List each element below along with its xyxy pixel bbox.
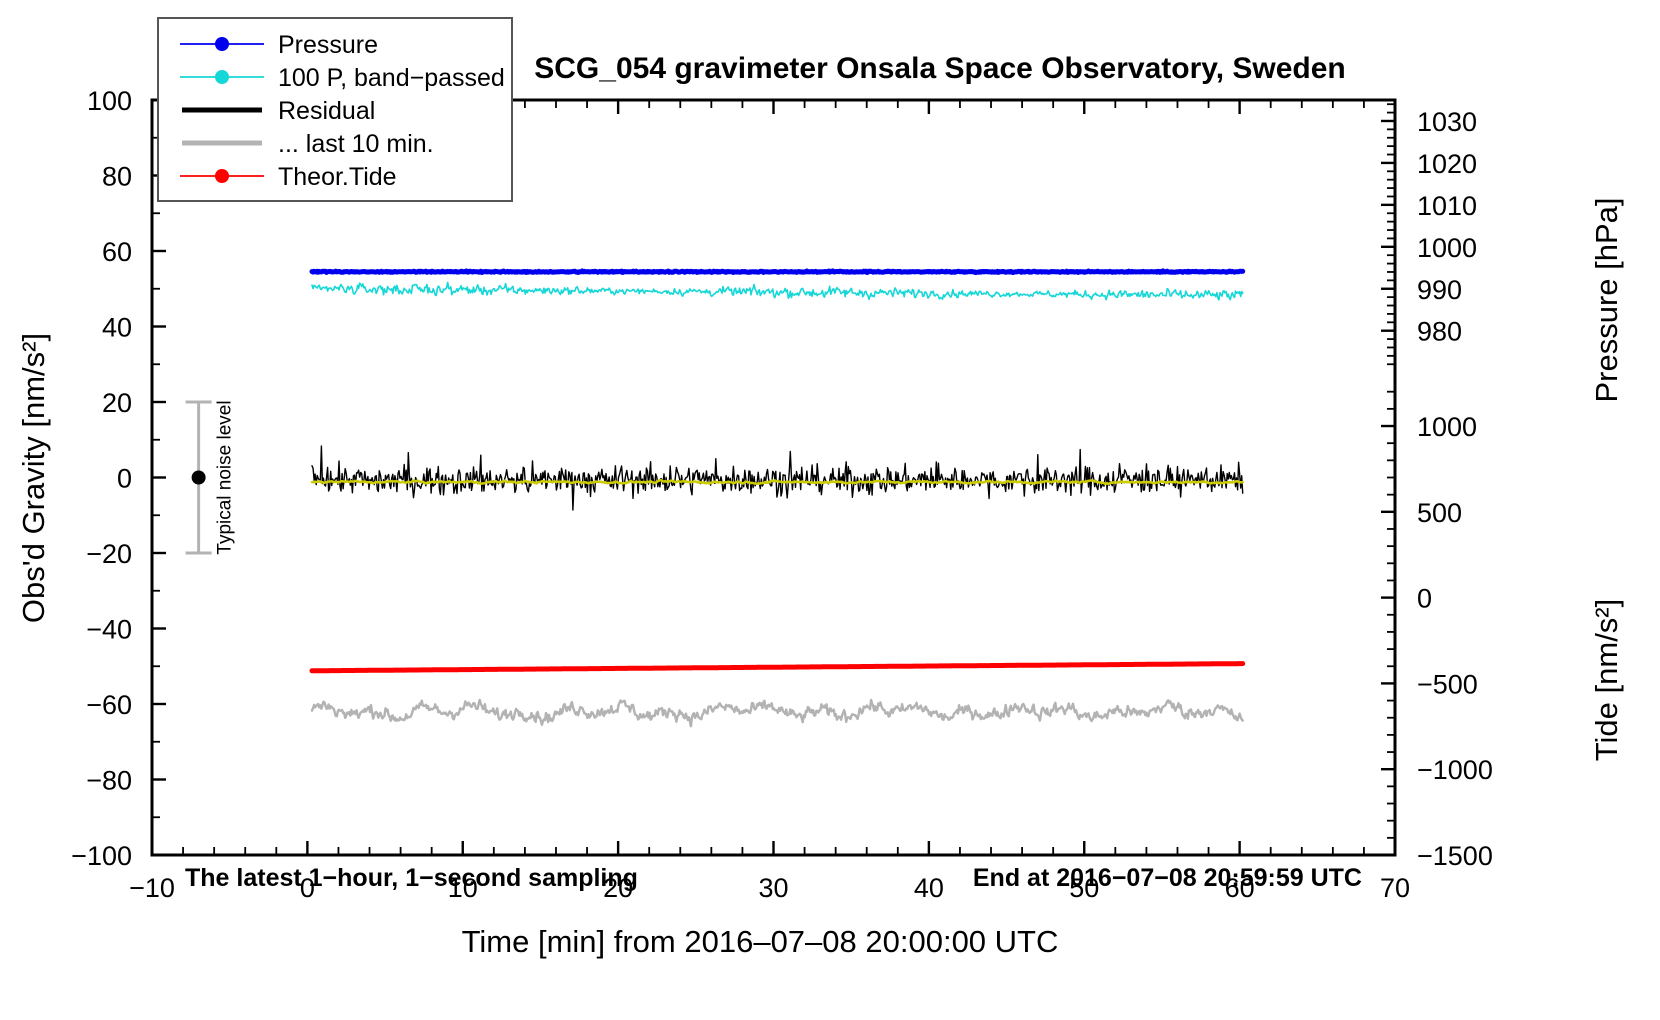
pressure-tick-label: 980	[1417, 317, 1462, 347]
x-axis-title: Time [min] from 2016‒07‒08 20:00:00 UTC	[462, 924, 1059, 959]
tide-tick-label: 500	[1417, 498, 1462, 528]
y-tick-label: 80	[102, 162, 132, 192]
pressure-tick-label: 1000	[1417, 233, 1477, 263]
y-tick-label: 100	[87, 86, 132, 116]
trace-pressure	[312, 271, 1243, 273]
noise-center-dot	[192, 471, 206, 485]
tide-tick-label: 1000	[1417, 412, 1477, 442]
tide-tick-label: 0	[1417, 584, 1432, 614]
legend-label: Theor.Tide	[278, 163, 397, 191]
y-tick-label: −60	[86, 690, 132, 720]
tide-tick-label: −500	[1417, 669, 1478, 699]
y-axis-title-pressure: Pressure [hPa]	[1589, 197, 1624, 402]
y-tick-label: −80	[86, 766, 132, 796]
gravimeter-chart: −10010203040506070−100−80−60−40−20020406…	[0, 0, 1660, 1020]
y-axis-title-left: Obs'd Gravity [nm/s²]	[16, 333, 51, 623]
y-tick-label: −100	[71, 841, 132, 871]
tide-tick-label: −1000	[1417, 755, 1493, 785]
page-title: SCG_054 gravimeter Onsala Space Observat…	[534, 52, 1346, 85]
chart-page: −10010203040506070−100−80−60−40−20020406…	[0, 0, 1660, 1020]
legend-swatch-marker	[215, 169, 229, 183]
x-tick-label: −10	[129, 873, 175, 903]
y-tick-label: 0	[117, 464, 132, 494]
y-axis-title-tide: Tide [nm/s²]	[1589, 599, 1624, 762]
x-tick-label: 40	[914, 873, 944, 903]
pressure-tick-label: 1010	[1417, 191, 1477, 221]
y-tick-label: 60	[102, 237, 132, 267]
pressure-tick-label: 1030	[1417, 107, 1477, 137]
legend-swatch-marker	[215, 70, 229, 84]
tide-tick-label: −1500	[1417, 841, 1493, 871]
y-tick-label: 20	[102, 388, 132, 418]
legend-label: ... last 10 min.	[278, 130, 434, 158]
x-tick-label: 70	[1380, 873, 1410, 903]
x-tick-label: 30	[758, 873, 788, 903]
chart-legend[interactable]: Pressure100 P, band−passedResidual... la…	[158, 18, 512, 201]
legend-swatch-marker	[215, 37, 229, 51]
annotation-end-time: End at 2016−07−08 20:59:59 UTC	[973, 864, 1362, 892]
annotation-sampling: The latest 1−hour, 1−second sampling	[185, 864, 638, 892]
legend-label: 100 P, band−passed	[278, 64, 505, 92]
legend-label: Pressure	[278, 31, 378, 59]
y-tick-label: −20	[86, 539, 132, 569]
pressure-tick-label: 990	[1417, 275, 1462, 305]
legend-label: Residual	[278, 97, 375, 125]
y-tick-label: −40	[86, 615, 132, 645]
pressure-tick-label: 1020	[1417, 149, 1477, 179]
noise-level-label: Typical noise level	[215, 400, 236, 554]
y-tick-label: 40	[102, 313, 132, 343]
